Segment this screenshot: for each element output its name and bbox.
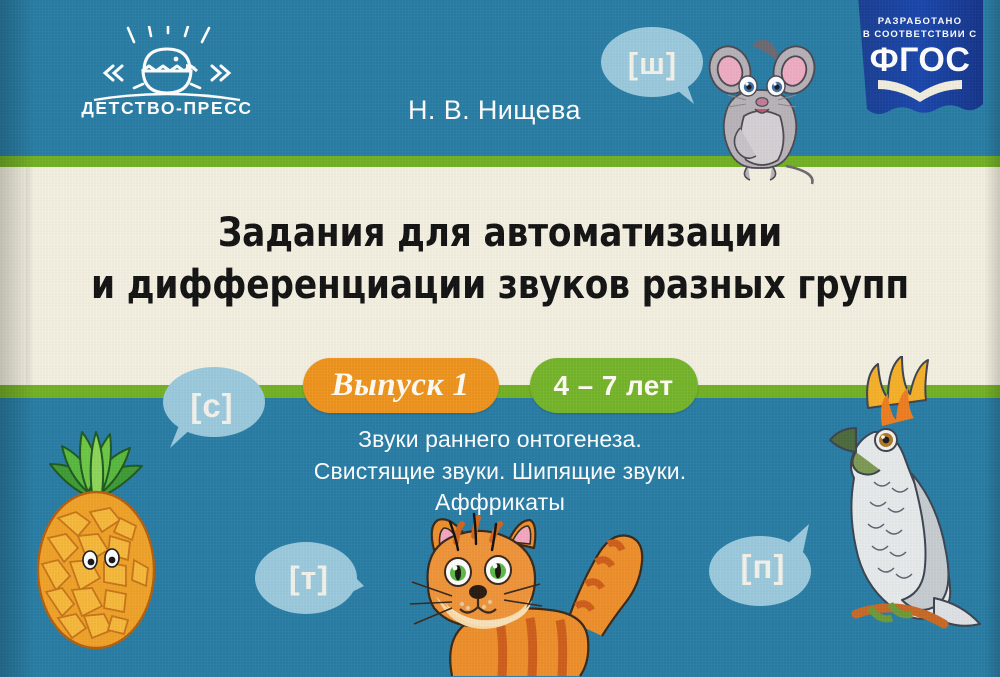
- badge-acronym: ФГОС: [870, 41, 971, 79]
- pineapple-character-illustration: [22, 402, 170, 650]
- badge-line1: РАЗРАБОТАНО: [878, 16, 962, 27]
- publisher-logo: ДЕТСТВО-ПРЕСС: [72, 26, 262, 138]
- publisher-name: ДЕТСТВО-ПРЕСС: [72, 98, 262, 119]
- bubble-label-p: [п]: [707, 526, 819, 608]
- speech-bubble-t: [т]: [254, 538, 364, 620]
- author-name: Н. В. Нищева: [408, 95, 581, 126]
- title-line-1: Задания для автоматизации: [70, 207, 930, 259]
- fgos-ribbon: РАЗРАБОТАНО В СООТВЕТСТВИИ С ФГОС: [858, 0, 983, 132]
- orange-tabby-cat-illustration: [400, 500, 664, 677]
- book-cover: ДЕТСТВО-ПРЕСС Н. В. Нищева РАЗРАБОТАНО В…: [0, 0, 1000, 677]
- fgos-badge: РАЗРАБОТАНО В СООТВЕТСТВИИ С ФГОС: [858, 0, 983, 132]
- speech-bubble-sh: [ш]: [600, 26, 705, 104]
- speech-bubble-p: [п]: [707, 524, 819, 608]
- upper-green-stripe: [0, 156, 1000, 167]
- title-line-2: и дифференциации звуков разных групп: [70, 259, 930, 311]
- bubble-label-t: [т]: [254, 536, 364, 620]
- hatching-chick-icon: [72, 26, 262, 102]
- age-range-badge: 4 – 7 лет: [530, 358, 698, 413]
- speech-bubble-s: [с]: [158, 366, 266, 448]
- white-cockatoo-illustration: [812, 356, 992, 642]
- page-title: Задания для автоматизации и дифференциац…: [70, 207, 930, 311]
- bubble-label-s: [с]: [158, 363, 266, 448]
- badge-line2: В СООТВЕТСТВИИ С: [863, 29, 977, 40]
- gray-mouse-illustration: [700, 18, 828, 186]
- issue-badge: Выпуск 1: [303, 358, 499, 413]
- bubble-label-sh: [ш]: [600, 23, 705, 104]
